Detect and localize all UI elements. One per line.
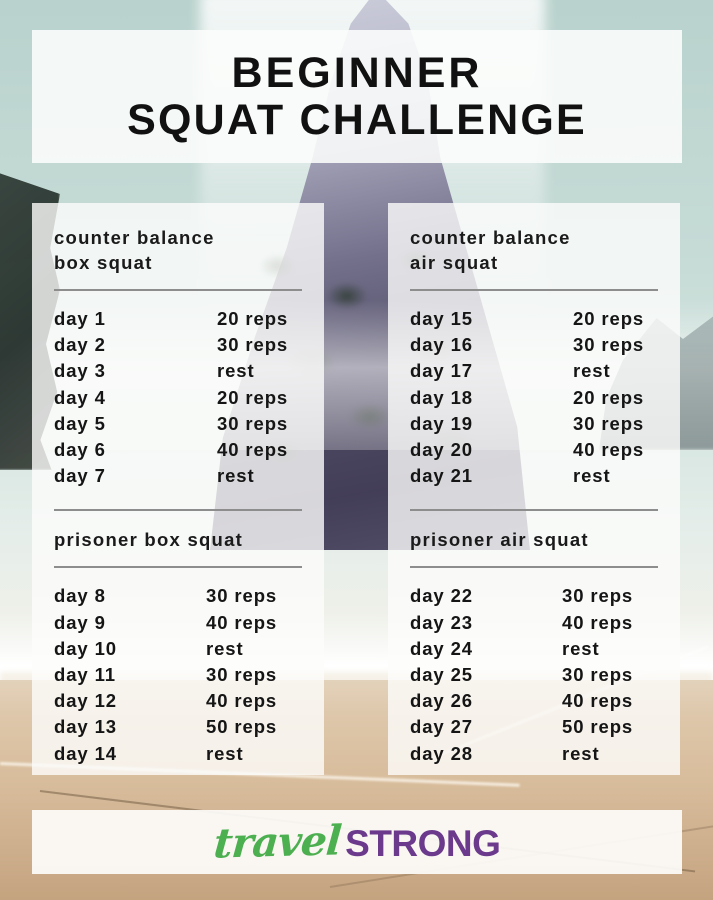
day-label: day 23 — [410, 610, 562, 636]
reps-value: 40 reps — [562, 610, 633, 636]
reps-value: 40 reps — [562, 437, 644, 463]
day-label: day 14 — [54, 741, 206, 767]
day-label: day 10 — [54, 636, 206, 662]
day-label: day 9 — [54, 610, 206, 636]
schedule-rows: day 2230 reps day 2340 reps day 24rest d… — [410, 583, 658, 766]
section-title-line-1: counter balance — [54, 225, 302, 250]
section-divider — [410, 509, 658, 511]
day-label: day 2 — [54, 332, 206, 358]
schedule-row: day 640 reps — [54, 437, 302, 463]
section-prisoner-box-squat: prisoner box squat day 830 reps day 940 … — [54, 509, 302, 766]
schedule-row: day 2340 reps — [410, 610, 658, 636]
day-label: day 18 — [410, 385, 562, 411]
schedule-row: day 2040 reps — [410, 437, 658, 463]
day-label: day 12 — [54, 688, 206, 714]
schedule-row: day 1240 reps — [54, 688, 302, 714]
schedule-row: day 14rest — [54, 741, 302, 767]
squat-challenge-poster: BEGINNER SQUAT CHALLENGE counter balance… — [0, 0, 713, 900]
schedule-rows: day 1520 reps day 1630 reps day 17rest d… — [410, 306, 658, 489]
schedule-row: day 530 reps — [54, 411, 302, 437]
day-label: day 26 — [410, 688, 562, 714]
reps-value: 20 reps — [206, 306, 288, 332]
schedule-row: day 21rest — [410, 463, 658, 489]
day-label: day 20 — [410, 437, 562, 463]
reps-value: 30 reps — [562, 411, 644, 437]
schedule-row: day 2750 reps — [410, 714, 658, 740]
section-counter-balance-air-squat: counter balance air squat day 1520 reps … — [410, 225, 658, 489]
schedule-row: day 2530 reps — [410, 662, 658, 688]
reps-value: 20 reps — [562, 306, 644, 332]
reps-value: rest — [206, 636, 244, 662]
reps-value: 30 reps — [206, 411, 288, 437]
reps-value: rest — [562, 741, 600, 767]
schedule-rows: day 120 reps day 230 reps day 3rest day … — [54, 306, 302, 489]
reps-value: 20 reps — [562, 385, 644, 411]
schedule-row: day 420 reps — [54, 385, 302, 411]
section-spacer — [54, 489, 302, 509]
poster-title-bar: BEGINNER SQUAT CHALLENGE — [32, 30, 682, 163]
schedule-row: day 1820 reps — [410, 385, 658, 411]
reps-value: 30 reps — [206, 332, 288, 358]
section-counter-balance-box-squat: counter balance box squat day 120 reps d… — [54, 225, 302, 489]
schedule-row: day 230 reps — [54, 332, 302, 358]
schedule-row: day 120 reps — [54, 306, 302, 332]
day-label: day 24 — [410, 636, 562, 662]
section-divider — [54, 566, 302, 568]
day-label: day 7 — [54, 463, 206, 489]
day-label: day 15 — [410, 306, 562, 332]
reps-value: rest — [206, 463, 255, 489]
reps-value: rest — [562, 358, 611, 384]
day-label: day 4 — [54, 385, 206, 411]
reps-value: 40 reps — [206, 610, 277, 636]
page-title-line-1: BEGINNER — [232, 50, 483, 96]
section-title-line-1: prisoner box squat — [54, 527, 302, 552]
reps-value: rest — [206, 358, 255, 384]
reps-value: 50 reps — [562, 714, 633, 740]
section-divider — [410, 566, 658, 568]
schedule-row: day 1130 reps — [54, 662, 302, 688]
schedule-row: day 28rest — [410, 741, 658, 767]
day-label: day 11 — [54, 662, 206, 688]
day-label: day 25 — [410, 662, 562, 688]
day-label: day 21 — [410, 463, 562, 489]
reps-value: 40 reps — [206, 437, 288, 463]
footer-logo-bar: travel STRONG — [32, 810, 682, 874]
section-prisoner-air-squat: prisoner air squat day 2230 reps day 234… — [410, 509, 658, 766]
schedule-row: day 10rest — [54, 636, 302, 662]
section-title-line-2: air squat — [410, 250, 658, 275]
schedule-row: day 2640 reps — [410, 688, 658, 714]
day-label: day 17 — [410, 358, 562, 384]
schedule-row: day 1930 reps — [410, 411, 658, 437]
section-divider — [54, 509, 302, 511]
schedule-row: day 3rest — [54, 358, 302, 384]
section-title-line-1: prisoner air squat — [410, 527, 658, 552]
schedule-row: day 7rest — [54, 463, 302, 489]
section-divider — [54, 289, 302, 291]
section-title-line-2: box squat — [54, 250, 302, 275]
brand-logo[interactable]: travel STRONG — [214, 818, 501, 866]
day-label: day 1 — [54, 306, 206, 332]
schedule-panel-right: counter balance air squat day 1520 reps … — [388, 203, 680, 775]
page-title-line-2: SQUAT CHALLENGE — [127, 97, 587, 143]
day-label: day 22 — [410, 583, 562, 609]
schedule-row: day 830 reps — [54, 583, 302, 609]
day-label: day 13 — [54, 714, 206, 740]
schedule-panel-left: counter balance box squat day 120 reps d… — [32, 203, 324, 775]
reps-value: rest — [206, 741, 244, 767]
reps-value: 40 reps — [206, 688, 277, 714]
brand-logo-strong: STRONG — [345, 823, 500, 865]
reps-value: 20 reps — [206, 385, 288, 411]
section-title-line-1: counter balance — [410, 225, 658, 250]
day-label: day 16 — [410, 332, 562, 358]
reps-value: 30 reps — [562, 332, 644, 358]
reps-value: 40 reps — [562, 688, 633, 714]
schedule-row: day 1350 reps — [54, 714, 302, 740]
schedule-row: day 17rest — [410, 358, 658, 384]
section-divider — [410, 289, 658, 291]
reps-value: 50 reps — [206, 714, 277, 740]
day-label: day 19 — [410, 411, 562, 437]
day-label: day 27 — [410, 714, 562, 740]
reps-value: 30 reps — [206, 662, 277, 688]
schedule-row: day 2230 reps — [410, 583, 658, 609]
schedule-row: day 1520 reps — [410, 306, 658, 332]
reps-value: 30 reps — [562, 583, 633, 609]
reps-value: 30 reps — [206, 583, 277, 609]
day-label: day 5 — [54, 411, 206, 437]
reps-value: 30 reps — [562, 662, 633, 688]
day-label: day 28 — [410, 741, 562, 767]
brand-logo-travel: travel — [212, 816, 343, 867]
day-label: day 6 — [54, 437, 206, 463]
reps-value: rest — [562, 636, 600, 662]
section-spacer — [410, 489, 658, 509]
day-label: day 8 — [54, 583, 206, 609]
schedule-row: day 1630 reps — [410, 332, 658, 358]
schedule-rows: day 830 reps day 940 reps day 10rest day… — [54, 583, 302, 766]
schedule-row: day 940 reps — [54, 610, 302, 636]
schedule-row: day 24rest — [410, 636, 658, 662]
reps-value: rest — [562, 463, 611, 489]
day-label: day 3 — [54, 358, 206, 384]
